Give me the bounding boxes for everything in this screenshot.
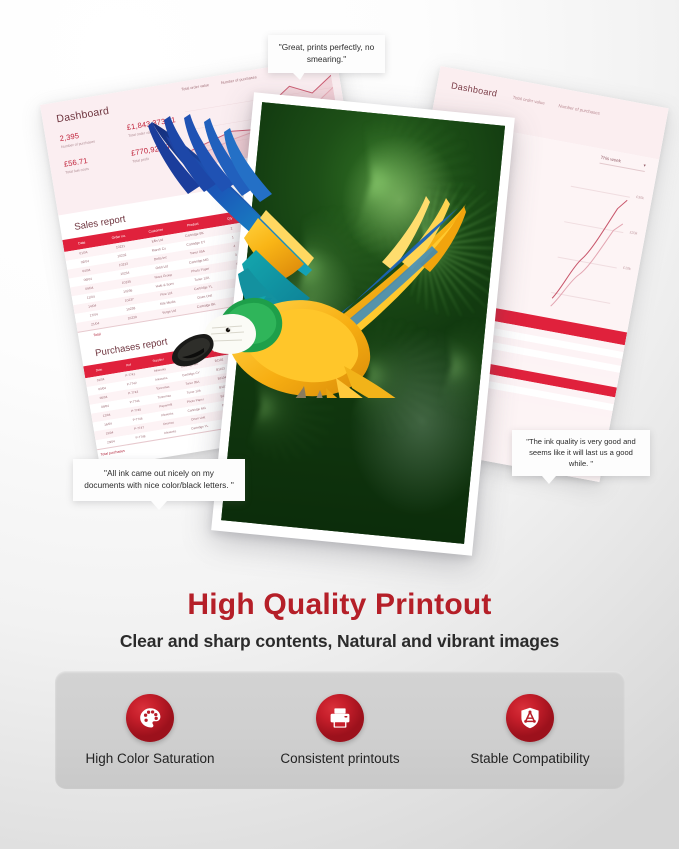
- testimonial-bubble-right: "The ink quality is very good and seems …: [512, 430, 650, 476]
- period-selector[interactable]: This week ▾: [599, 155, 646, 172]
- photo-light-glow: [221, 102, 505, 544]
- period-selector-label: This week: [600, 155, 621, 165]
- right-ytick-1: £20k: [629, 230, 637, 235]
- right-ytick-2: £10k: [623, 266, 631, 271]
- right-metrics: Total order value Number of purchases: [512, 95, 600, 116]
- xtick: Jan: [195, 172, 201, 177]
- shield-icon: [506, 694, 554, 742]
- kpi-group: 2,395 Number of purchases £1,843,373.11 …: [59, 112, 202, 186]
- bubble-tail-icon: [292, 72, 305, 80]
- bubble-tail-icon: [151, 501, 167, 510]
- feature-label: Stable Compatibility: [470, 751, 589, 766]
- feature-bar: High Color Saturation Consistent printou…: [55, 671, 625, 789]
- testimonial-text: "The ink quality is very good and seems …: [526, 437, 636, 468]
- xtick: Mar: [236, 165, 242, 170]
- hero-collage: Dashboard Total order value Number of pu…: [0, 0, 679, 575]
- testimonial-bubble-left: "All ink came out nicely on my documents…: [73, 459, 245, 501]
- feature-label: Consistent printouts: [280, 751, 399, 766]
- right-metric-1: Number of purchases: [558, 103, 600, 116]
- feature-label: High Color Saturation: [85, 751, 214, 766]
- right-ytick-0: £30k: [636, 195, 644, 200]
- xtick: Feb: [215, 168, 221, 173]
- page-title: High Quality Printout: [0, 588, 679, 622]
- product-marketing-image: Dashboard Total order value Number of pu…: [0, 0, 679, 849]
- feature-consistent-printouts: Consistent printouts: [245, 671, 435, 789]
- right-sparkline: [547, 170, 633, 328]
- testimonial-bubble-top: "Great, prints perfectly, no smearing.": [268, 35, 385, 73]
- jungle-background: [221, 102, 505, 544]
- feature-high-color-saturation: High Color Saturation: [55, 671, 245, 789]
- right-chart-grid: £30k £20k £10k: [547, 170, 647, 331]
- feature-stable-compatibility: Stable Compatibility: [435, 671, 625, 789]
- testimonial-text: "All ink came out nicely on my documents…: [84, 468, 234, 490]
- macaw-photograph: [221, 102, 505, 544]
- bubble-tail-icon: [542, 476, 556, 484]
- right-metric-0: Total order value: [512, 95, 545, 106]
- kpi-card: £56.71 Total fuel costs: [63, 149, 133, 175]
- printer-icon: [316, 694, 364, 742]
- chevron-down-icon: ▾: [643, 163, 646, 169]
- photo-print: [211, 92, 515, 555]
- page-subtitle: Clear and sharp contents, Natural and vi…: [0, 631, 679, 652]
- kpi-card: 2,395 Number of purchases: [59, 123, 129, 149]
- right-dashboard-title: Dashboard: [450, 80, 498, 98]
- testimonial-text: "Great, prints perfectly, no smearing.": [279, 42, 374, 64]
- palette-icon: [126, 694, 174, 742]
